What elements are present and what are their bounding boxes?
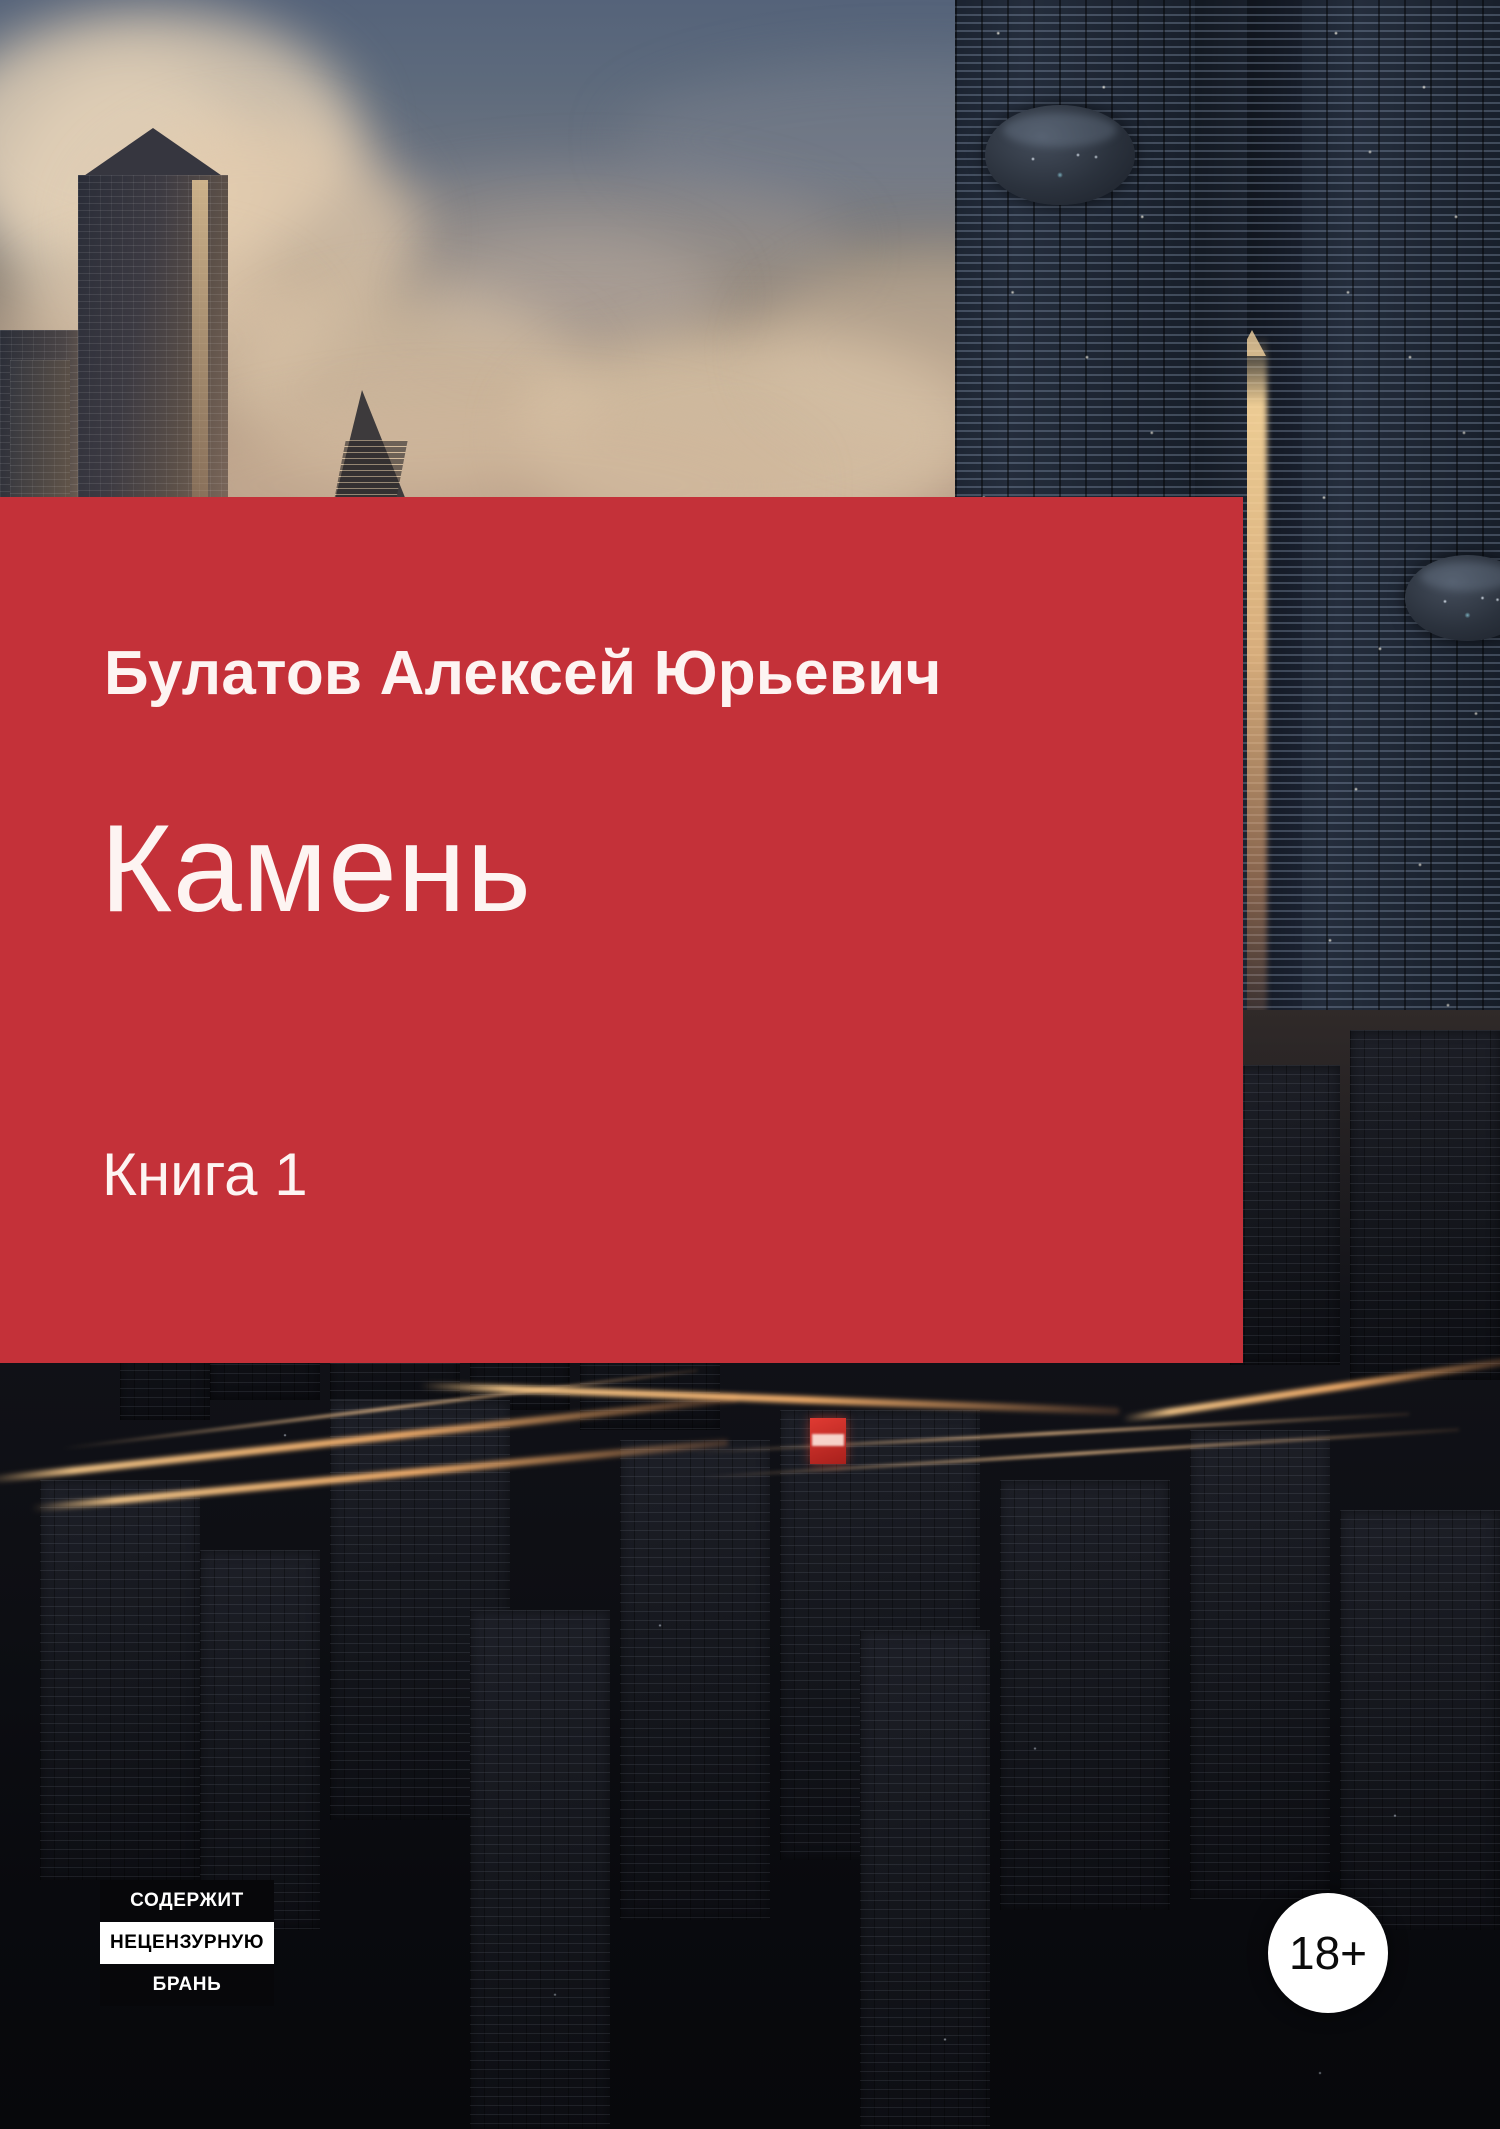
book-title: Камень bbox=[100, 798, 532, 940]
age-rating-label: 18+ bbox=[1289, 1926, 1367, 1980]
billboard-sign-text bbox=[812, 1434, 844, 1446]
background-tower bbox=[10, 360, 70, 520]
content-warning-badge: СОДЕРЖИТ НЕЦЕНЗУРНУЮ БРАНЬ bbox=[100, 1880, 274, 2006]
cloud-shape bbox=[330, 170, 850, 320]
content-warning-line-1: СОДЕРЖИТ bbox=[100, 1880, 274, 1922]
book-cover: Булатов Алексей Юрьевич Камень Книга 1 С… bbox=[0, 0, 1500, 2129]
mega-tower bbox=[1300, 0, 1500, 1070]
series-volume: Книга 1 bbox=[102, 1140, 308, 1209]
age-rating-badge: 18+ bbox=[1268, 1893, 1388, 2013]
flying-saucer-icon bbox=[985, 105, 1135, 205]
lit-windows bbox=[1300, 0, 1500, 1070]
tower-light-strip bbox=[192, 180, 208, 515]
content-warning-line-3: БРАНЬ bbox=[100, 1964, 274, 2006]
pyramid-roof bbox=[78, 128, 228, 180]
cloud-shape bbox=[420, 230, 720, 360]
author-name: Булатов Алексей Юрьевич bbox=[104, 638, 942, 709]
content-warning-line-2: НЕЦЕНЗУРНУЮ bbox=[100, 1922, 274, 1964]
saucer-lights bbox=[985, 105, 1135, 205]
window-grid bbox=[10, 360, 70, 520]
